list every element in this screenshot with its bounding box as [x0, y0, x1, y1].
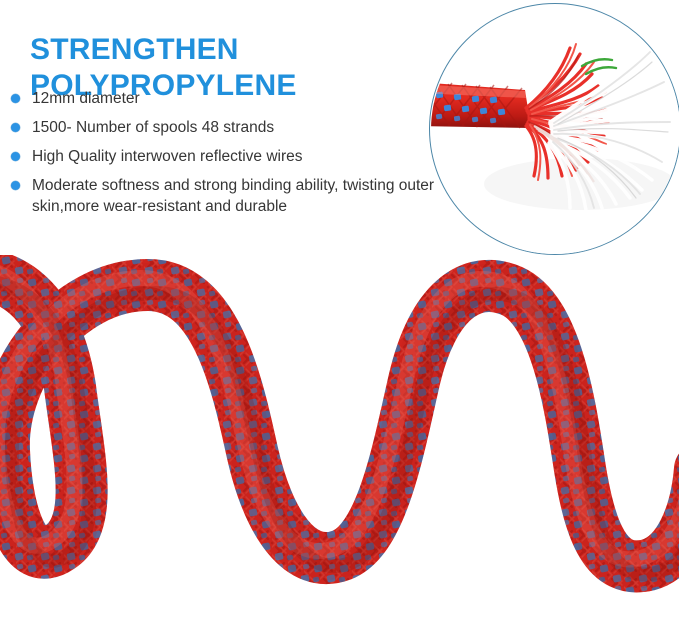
bullet-dot-icon: [11, 94, 20, 103]
coiled-rope-photo: [0, 255, 679, 638]
rope-illustration: [0, 255, 679, 638]
list-item: 1500- Number of spools 48 strands: [10, 117, 460, 138]
list-item-label: 1500- Number of spools 48 strands: [32, 119, 274, 136]
list-item: 12mm diameter: [10, 88, 460, 109]
list-item-label: High Quality interwoven reflective wires: [32, 148, 303, 165]
bullet-dot-icon: [11, 152, 20, 161]
list-item-label: 12mm diameter: [32, 90, 140, 107]
list-item-label: Moderate softness and strong binding abi…: [32, 177, 434, 215]
list-item: High Quality interwoven reflective wires: [10, 146, 460, 167]
rope-fray-illustration: [430, 4, 679, 255]
list-item: Moderate softness and strong binding abi…: [10, 175, 460, 217]
rope-detail-inset: [429, 3, 679, 255]
feature-list: 12mm diameter 1500- Number of spools 48 …: [10, 88, 460, 225]
bullet-dot-icon: [11, 181, 20, 190]
bullet-dot-icon: [11, 123, 20, 132]
product-feature-banner: STRENGTHEN POLYPROPYLENE 12mm diameter 1…: [0, 0, 679, 638]
